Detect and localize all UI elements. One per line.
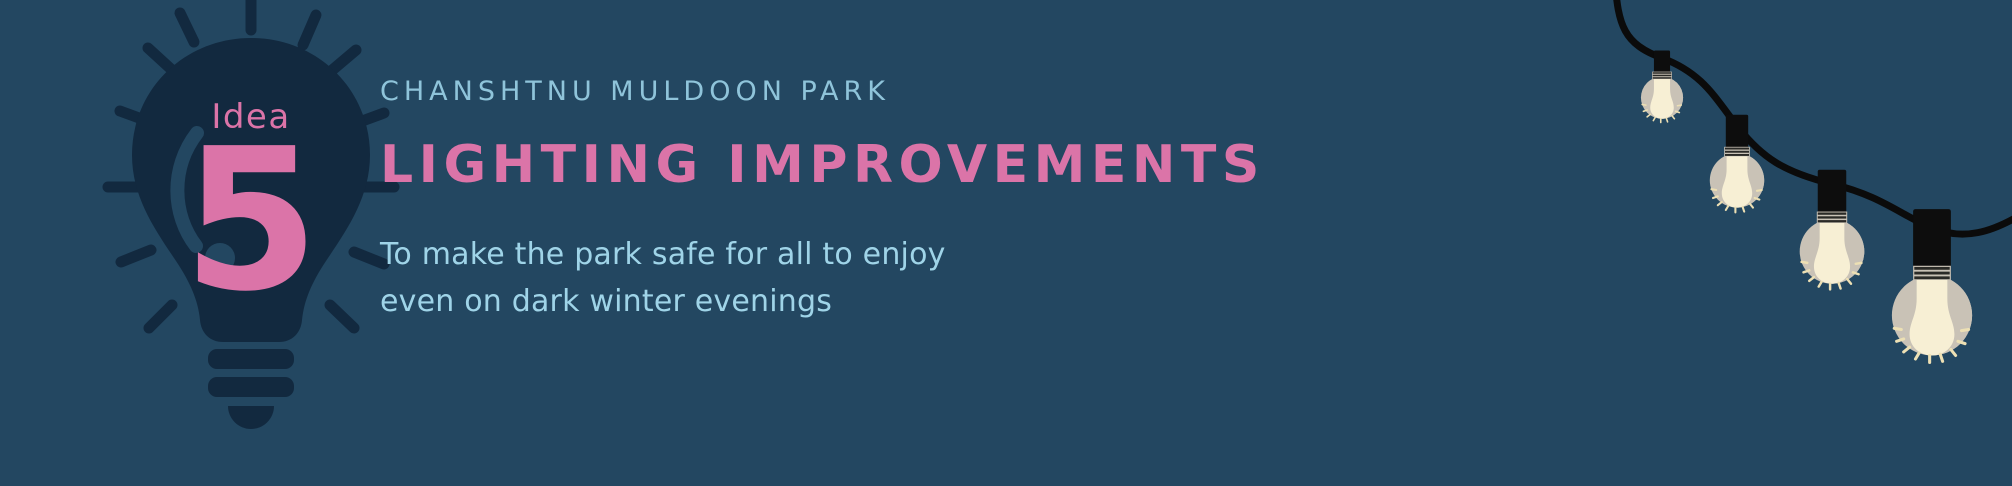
subcopy-line-1: To make the park safe for all to enjoy bbox=[380, 231, 1530, 278]
string-wire bbox=[1615, 0, 2012, 234]
string-lights-decoration bbox=[1552, 0, 2012, 400]
bulb-2 bbox=[1710, 115, 1764, 213]
lightbulb-base-bar-2 bbox=[208, 377, 294, 397]
eyebrow-park-name: CHANSHTNU MULDOON PARK bbox=[380, 78, 1530, 105]
bulb-socket-4 bbox=[1913, 209, 1951, 275]
lightbulb-base-tip bbox=[228, 406, 274, 429]
idea-number: 5 bbox=[183, 107, 319, 335]
lightbulb-base-bar-1 bbox=[208, 349, 294, 369]
banner-copy: CHANSHTNU MULDOON PARK LIGHTING IMPROVEM… bbox=[380, 78, 1530, 326]
page-title: LIGHTING IMPROVEMENTS bbox=[380, 139, 1530, 191]
subcopy: To make the park safe for all to enjoy e… bbox=[380, 231, 1530, 326]
subcopy-line-2: even on dark winter evenings bbox=[380, 278, 1530, 325]
lighting-improvements-banner: Idea 5 CHANSHTNU MULDOON PARK LIGHTING I… bbox=[0, 0, 2012, 486]
idea-badge: Idea 5 bbox=[60, 0, 400, 486]
